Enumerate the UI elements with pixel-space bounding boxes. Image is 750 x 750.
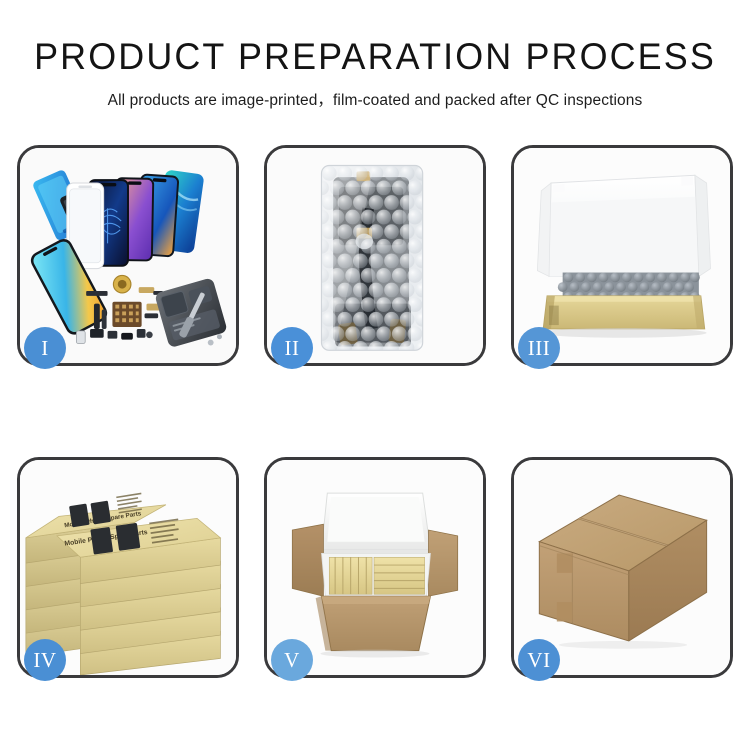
process-step-5: V (264, 457, 486, 678)
product-preparation-infographic: PRODUCT PREPARATION PROCESS All products… (0, 0, 750, 750)
step-badge-3: III (518, 327, 560, 369)
step-badge-4: IV (24, 639, 66, 681)
page-subtitle: All products are image-printed，film-coat… (0, 88, 750, 110)
process-step-3: III (511, 145, 733, 366)
page-title: PRODUCT PREPARATION PROCESS (11, 38, 739, 77)
process-step-1: I (17, 145, 239, 366)
step-badge-1: I (24, 327, 66, 369)
process-step-2: II (264, 145, 486, 366)
process-step-6: VI (511, 457, 733, 678)
step-badge-2: II (271, 327, 313, 369)
header: PRODUCT PREPARATION PROCESS All products… (0, 0, 750, 110)
step-badge-6: VI (518, 639, 560, 681)
step-badge-5: V (271, 639, 313, 681)
process-step-4: Mobile Phone Spare Parts (17, 457, 239, 678)
process-step-grid: I (17, 145, 733, 678)
